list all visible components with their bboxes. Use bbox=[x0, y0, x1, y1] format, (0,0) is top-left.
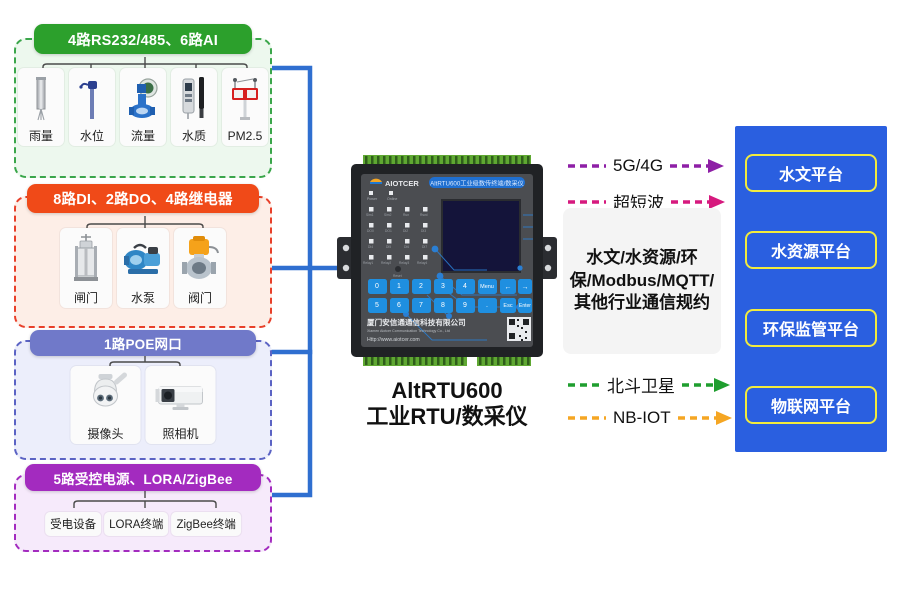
panel-di-do-relay[interactable]: 8路DI、2路DO、4路继电器 bbox=[14, 196, 272, 328]
sluice-gate-icon bbox=[60, 228, 112, 291]
svg-text:Relay3: Relay3 bbox=[399, 261, 409, 265]
svg-text:7: 7 bbox=[419, 302, 423, 309]
bus-trunk bbox=[272, 68, 310, 495]
svg-text:.: . bbox=[486, 302, 488, 309]
panel-poe[interactable]: 1路POE网口 bbox=[14, 340, 272, 460]
device-card-pm25[interactable]: PM2.5 bbox=[222, 68, 268, 146]
device-card-flow-meter[interactable]: 流量 bbox=[120, 68, 166, 146]
dashed-arrow-right-beidou bbox=[680, 377, 732, 393]
valve-icon bbox=[174, 228, 226, 291]
device-caption: AltRTU600 工业RTU/数采仪 bbox=[337, 378, 557, 430]
svg-text:Online: Online bbox=[387, 197, 397, 201]
svg-text:Esc: Esc bbox=[503, 303, 512, 309]
svg-text:DO1: DO1 bbox=[385, 229, 392, 233]
uplink-beidou: 北斗卫星 bbox=[566, 372, 732, 397]
svg-text:2: 2 bbox=[419, 283, 423, 290]
device-card-label: 雨量 bbox=[29, 129, 53, 146]
svg-text:AIOTCER: AIOTCER bbox=[385, 179, 419, 188]
svg-text:9: 9 bbox=[463, 302, 467, 309]
device-card-label: 闸门 bbox=[74, 291, 98, 308]
svg-text:Enter: Enter bbox=[519, 303, 531, 309]
terminal-chip-lora[interactable]: LORA终端 bbox=[104, 512, 168, 536]
device-card-label: 水位 bbox=[80, 129, 104, 146]
svg-text:DI2: DI2 bbox=[403, 229, 408, 233]
svg-text:DI3: DI3 bbox=[421, 229, 426, 233]
device-card-list-poe: 摄像头 照相机 bbox=[71, 366, 216, 444]
svg-text:→: → bbox=[522, 284, 529, 291]
svg-text:0: 0 bbox=[375, 283, 379, 290]
dashed-line-left-uhf bbox=[566, 195, 608, 209]
svg-text:DO0: DO0 bbox=[367, 229, 374, 233]
terminal-chip-powered-device[interactable]: 受电设备 bbox=[45, 512, 101, 536]
svg-text:Relay2: Relay2 bbox=[381, 261, 391, 265]
dashed-line-left-beidou bbox=[566, 378, 602, 392]
svg-text:DI4: DI4 bbox=[368, 245, 373, 249]
svg-text:Relay1: Relay1 bbox=[363, 261, 373, 265]
svg-text:厦门安信通通信科技有限公司: 厦门安信通通信科技有限公司 bbox=[367, 317, 466, 327]
svg-text:AltRTU600工业级数传终端/数采仪: AltRTU600工业级数传终端/数采仪 bbox=[430, 180, 524, 188]
platform-environmental-supervision[interactable]: 环保监管平台 bbox=[745, 309, 877, 347]
device-card-label: 水泵 bbox=[131, 291, 155, 308]
device-card-list-di-do: 闸门 水泵 bbox=[60, 228, 226, 308]
device-card-label: 流量 bbox=[131, 129, 155, 146]
uplink-label-5g: 5G/4G bbox=[613, 156, 663, 176]
device-card-bullet-camera[interactable]: 照相机 bbox=[146, 366, 216, 444]
device-caption-type: 工业RTU/数采仪 bbox=[337, 404, 557, 430]
svg-text:8: 8 bbox=[441, 302, 445, 309]
device-card-list-rs232: 雨量 水位 bbox=[18, 68, 268, 146]
platform-iot[interactable]: 物联网平台 bbox=[745, 386, 877, 424]
svg-text:Rsvd: Rsvd bbox=[420, 213, 428, 217]
svg-text:Relay4: Relay4 bbox=[417, 261, 427, 265]
svg-text:Xiamen Aiotcer Communication T: Xiamen Aiotcer Communication Technology … bbox=[367, 329, 450, 333]
platform-stack: 水文平台 水资源平台 环保监管平台 物联网平台 bbox=[735, 126, 887, 452]
pm25-monitor-icon bbox=[222, 68, 268, 129]
device-card-label: PM2.5 bbox=[228, 129, 263, 146]
device-card-rain-gauge[interactable]: 雨量 bbox=[18, 68, 64, 146]
device-card-dome-camera[interactable]: 摄像头 bbox=[71, 366, 141, 444]
water-pump-icon bbox=[117, 228, 169, 291]
uplink-label-beidou: 北斗卫星 bbox=[607, 372, 675, 397]
panel-rs232-ai[interactable]: 4路RS232/485、6路AI 雨量 bbox=[14, 38, 272, 178]
svg-text:4: 4 bbox=[463, 283, 467, 290]
svg-text:Reset: Reset bbox=[393, 274, 402, 278]
svg-text:6: 6 bbox=[397, 302, 401, 309]
panel-power-lora-zigbee[interactable]: 5路受控电源、LORA/ZigBee 受电设备 LORA终端 ZigBee终端 bbox=[14, 474, 272, 552]
panel-header-power-lora: 5路受控电源、LORA/ZigBee bbox=[25, 464, 261, 491]
uplink-5g-4g: 5G/4G bbox=[566, 156, 726, 176]
dashed-line-left-nbiot bbox=[566, 411, 608, 425]
device-card-label: 摄像头 bbox=[87, 427, 123, 444]
svg-text:Sim2: Sim2 bbox=[384, 213, 392, 217]
device-card-label: 照相机 bbox=[162, 427, 198, 444]
bullet-camera-icon bbox=[146, 366, 216, 427]
panel-header-di-do-relay: 8路DI、2路DO、4路继电器 bbox=[27, 184, 259, 213]
svg-text:Menu: Menu bbox=[480, 284, 494, 290]
svg-text:1: 1 bbox=[397, 283, 401, 290]
dashed-arrow-right-nbiot bbox=[676, 410, 734, 426]
svg-text:Http://www.aiotcer.com: Http://www.aiotcer.com bbox=[367, 337, 420, 343]
water-quality-probe-icon bbox=[171, 68, 217, 129]
device-card-valve[interactable]: 阀门 bbox=[174, 228, 226, 308]
dashed-line-left-5g bbox=[566, 159, 608, 173]
uplink-label-nbiot: NB-IOT bbox=[613, 408, 671, 428]
platform-hydrology[interactable]: 水文平台 bbox=[745, 154, 877, 192]
svg-text:5: 5 bbox=[375, 302, 379, 309]
device-card-label: 水质 bbox=[182, 129, 206, 146]
device-card-water-pump[interactable]: 水泵 bbox=[117, 228, 169, 308]
device-card-sluice-gate[interactable]: 闸门 bbox=[60, 228, 112, 308]
protocol-standards-box: 水文/水资源/环保/Modbus/MQTT/其他行业通信规约 bbox=[563, 208, 721, 354]
terminal-chip-zigbee[interactable]: ZigBee终端 bbox=[171, 512, 240, 536]
svg-text:DI7: DI7 bbox=[422, 245, 427, 249]
device-card-water-level[interactable]: 水位 bbox=[69, 68, 115, 146]
svg-text:Power: Power bbox=[367, 197, 378, 201]
device-card-water-quality[interactable]: 水质 bbox=[171, 68, 217, 146]
uplink-nbiot: NB-IOT bbox=[566, 408, 734, 428]
rain-gauge-icon bbox=[18, 68, 64, 129]
panel-header-poe: 1路POE网口 bbox=[30, 330, 256, 356]
terminal-chip-list: 受电设备 LORA终端 ZigBee终端 bbox=[45, 512, 241, 536]
svg-text:DI6: DI6 bbox=[404, 245, 409, 249]
device-caption-model: AltRTU600 bbox=[337, 378, 557, 404]
rtu-device-image[interactable]: AIOTCER AltRTU600工业级数传终端/数采仪 PowerOnline bbox=[337, 155, 557, 373]
svg-text:←: ← bbox=[505, 284, 512, 291]
diagram-canvas: 4路RS232/485、6路AI 雨量 bbox=[0, 0, 900, 600]
svg-text:Sim1: Sim1 bbox=[366, 213, 374, 217]
water-level-sensor-icon bbox=[69, 68, 115, 129]
device-card-label: 阀门 bbox=[188, 291, 212, 308]
flow-meter-icon bbox=[120, 68, 166, 129]
panel-header-rs232: 4路RS232/485、6路AI bbox=[34, 24, 252, 54]
svg-text:Run: Run bbox=[403, 213, 409, 217]
platform-water-resources[interactable]: 水资源平台 bbox=[745, 231, 877, 269]
dome-camera-icon bbox=[71, 366, 141, 427]
svg-text:DI5: DI5 bbox=[386, 245, 391, 249]
dashed-arrow-right-5g bbox=[668, 158, 726, 174]
svg-text:3: 3 bbox=[441, 283, 445, 290]
